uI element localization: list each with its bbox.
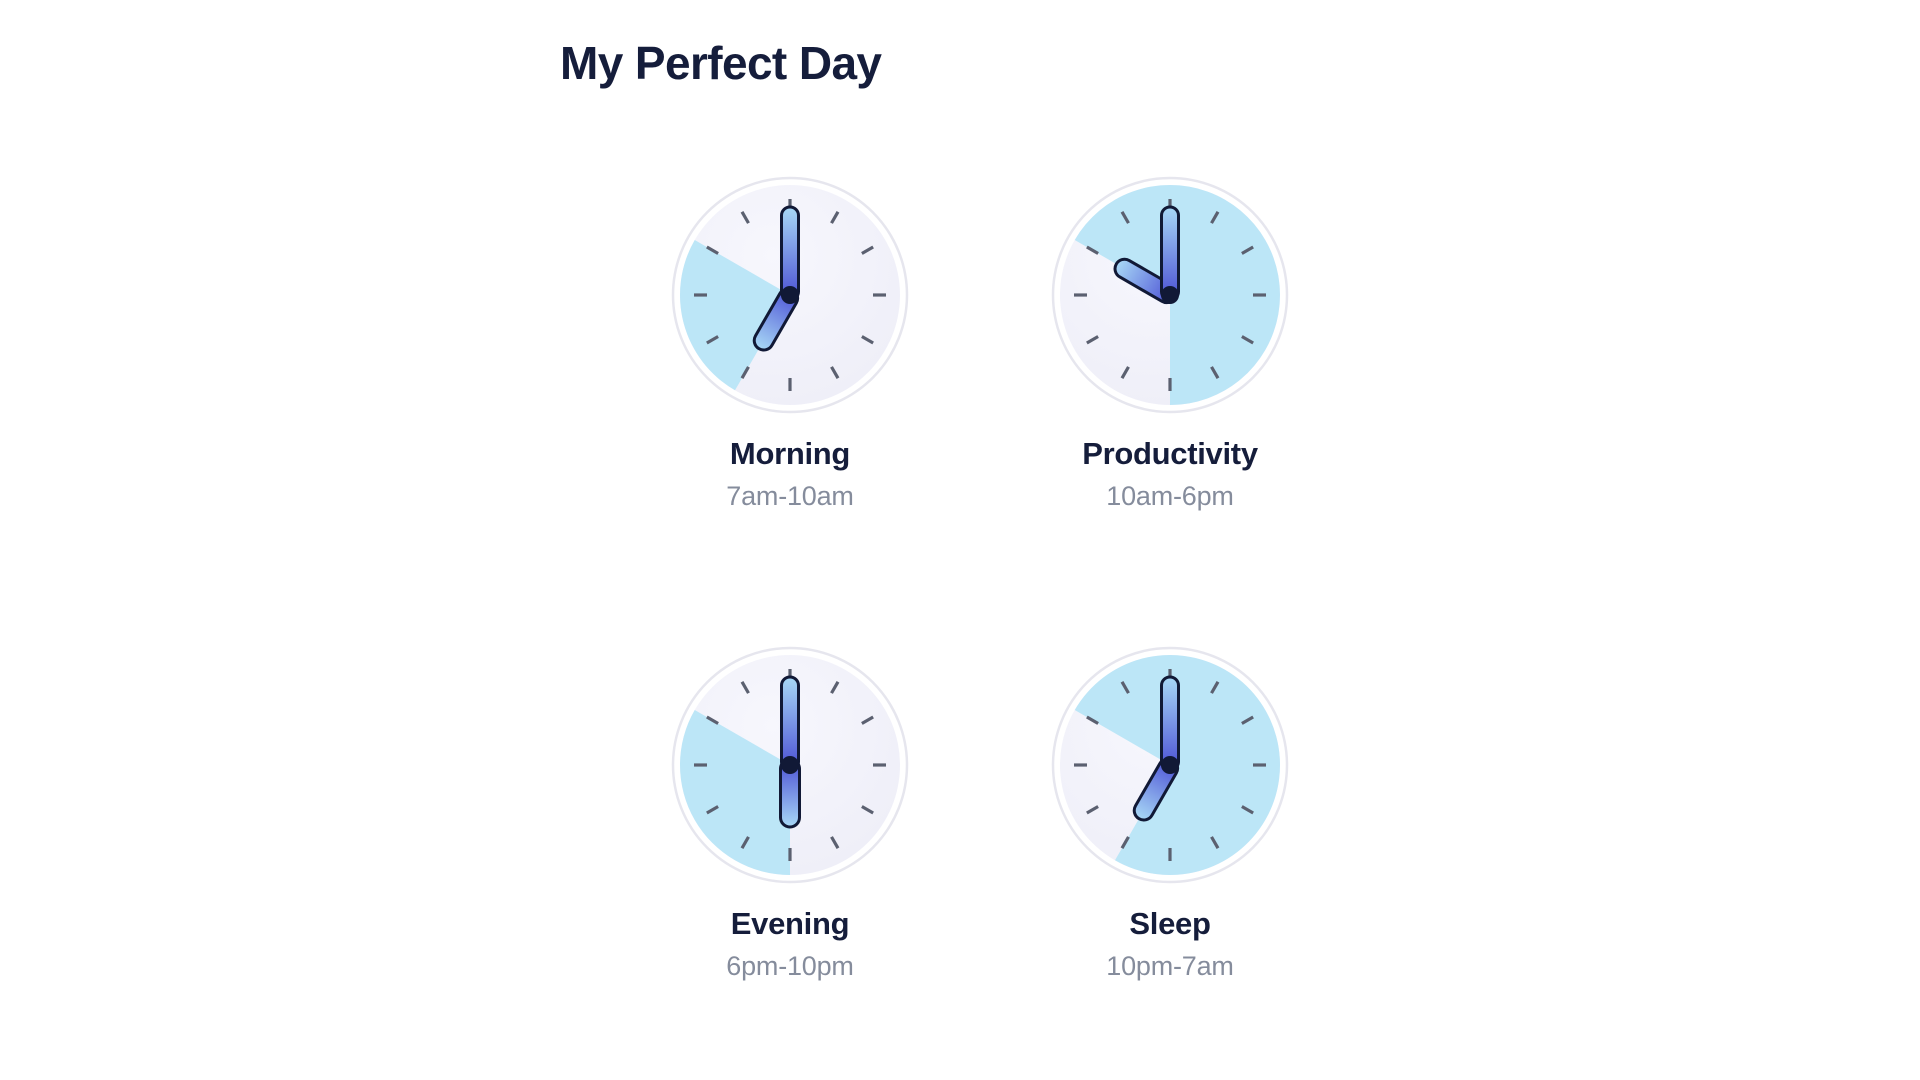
card-time-range: 7am-10am xyxy=(726,482,853,512)
clock-face-sleep xyxy=(1050,645,1290,885)
card-label: Evening xyxy=(731,907,849,941)
clock-hands xyxy=(781,677,800,827)
clock-card-productivity[interactable]: Productivity 10am-6pm xyxy=(995,175,1345,645)
card-label: Productivity xyxy=(1082,437,1258,471)
card-label: Sleep xyxy=(1129,907,1210,941)
clock-center-dot xyxy=(781,286,799,304)
clock-card-morning[interactable]: Morning 7am-10am xyxy=(585,175,995,645)
clock-face-evening xyxy=(670,645,910,885)
clock-center-dot xyxy=(1161,286,1179,304)
card-time-range: 10pm-7am xyxy=(1106,952,1233,982)
card-time-range: 10am-6pm xyxy=(1106,482,1233,512)
clock-face-productivity xyxy=(1050,175,1290,415)
clock-card-evening[interactable]: Evening 6pm-10pm xyxy=(585,645,995,1080)
analog-clock-icon xyxy=(670,175,910,415)
card-time-range: 6pm-10pm xyxy=(726,952,853,982)
clock-face-morning xyxy=(670,175,910,415)
clock-card-sleep[interactable]: Sleep 10pm-7am xyxy=(995,645,1345,1080)
card-label: Morning xyxy=(730,437,850,471)
clock-center-dot xyxy=(781,756,799,774)
analog-clock-icon xyxy=(670,645,910,885)
clock-center-dot xyxy=(1161,756,1179,774)
page-title: My Perfect Day xyxy=(560,36,881,90)
clock-card-grid: Morning 7am-10am xyxy=(585,175,1345,1080)
analog-clock-icon xyxy=(1050,645,1290,885)
analog-clock-icon xyxy=(1050,175,1290,415)
page-root: My Perfect Day xyxy=(0,0,1920,1080)
